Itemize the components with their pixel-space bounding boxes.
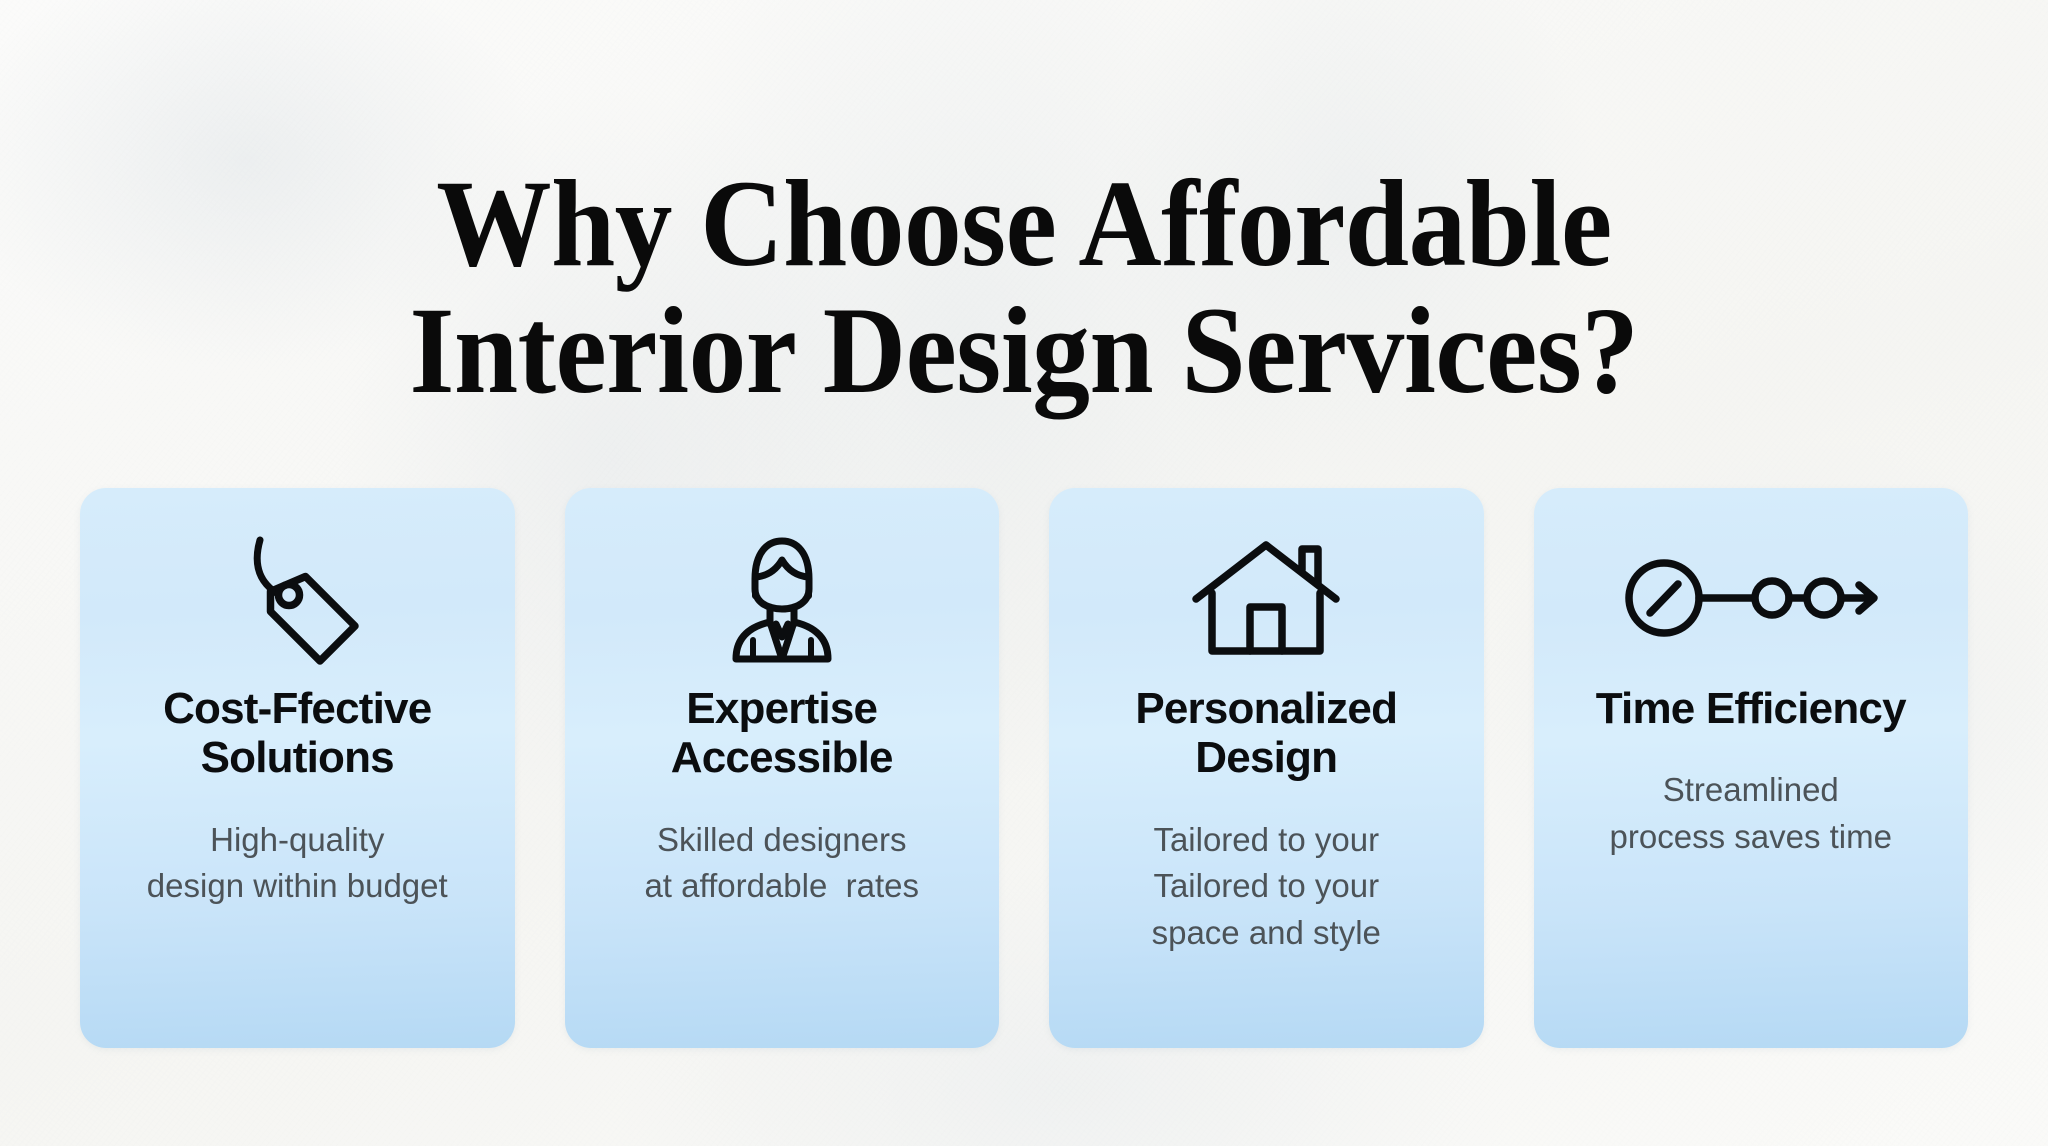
professional-person-icon bbox=[712, 522, 852, 674]
benefit-card-title-line-2: Solutions bbox=[163, 733, 431, 782]
benefit-card-title-line-1: Time Efficiency bbox=[1596, 684, 1906, 733]
benefit-card-desc-line-1: High-quality bbox=[147, 817, 448, 864]
benefit-card-row: Cost-Ffective Solutions High-quality des… bbox=[80, 488, 1968, 1048]
benefit-card-desc-line-2: process saves time bbox=[1610, 814, 1892, 861]
page-title-line-1: Why Choose Affordable bbox=[72, 161, 1977, 287]
benefit-card-desc-line-1: Tailored to your bbox=[1152, 817, 1381, 864]
benefit-card-title-line-1: Expertise bbox=[671, 684, 893, 733]
benefit-card-title-line-2: Design bbox=[1135, 733, 1397, 782]
slide-root: Why Choose Affordable Interior Design Se… bbox=[0, 0, 2048, 1146]
price-tag-icon bbox=[222, 522, 372, 674]
benefit-card-expertise[interactable]: Expertise Accessible Skilled designers a… bbox=[565, 488, 1000, 1048]
benefit-card-title-line-1: Personalized bbox=[1135, 684, 1397, 733]
benefit-card-description: Skilled designers at affordable rates bbox=[644, 817, 919, 911]
benefit-card-personalized[interactable]: Personalized Design Tailored to your Tai… bbox=[1049, 488, 1484, 1048]
benefit-card-description: Tailored to your Tailored to your space … bbox=[1152, 817, 1381, 958]
page-title-line-2: Interior Design Services? bbox=[72, 288, 1977, 414]
benefit-card-time-efficiency[interactable]: Time Efficiency Streamlined process save… bbox=[1534, 488, 1969, 1048]
benefit-card-description: High-quality design within budget bbox=[147, 817, 448, 911]
benefit-card-title: Cost-Ffective Solutions bbox=[163, 684, 431, 783]
benefit-card-desc-line-1: Skilled designers bbox=[644, 817, 919, 864]
benefit-card-title: Expertise Accessible bbox=[671, 684, 893, 783]
benefit-card-title: Personalized Design bbox=[1135, 684, 1397, 783]
benefit-card-desc-line-3: space and style bbox=[1152, 910, 1381, 957]
page-title: Why Choose Affordable Interior Design Se… bbox=[72, 161, 1977, 414]
benefit-card-description: Streamlined process saves time bbox=[1610, 767, 1892, 861]
benefit-card-desc-line-2: Tailored to your bbox=[1152, 863, 1381, 910]
benefit-card-desc-line-2: at affordable rates bbox=[644, 863, 919, 910]
benefit-card-desc-line-1: Streamlined bbox=[1610, 767, 1892, 814]
benefit-card-desc-line-2: design within budget bbox=[147, 863, 448, 910]
house-icon bbox=[1186, 522, 1346, 674]
benefit-card-title-line-2: Accessible bbox=[671, 733, 893, 782]
benefit-card-title-line-1: Cost-Ffective bbox=[163, 684, 431, 733]
benefit-card-cost-effective[interactable]: Cost-Ffective Solutions High-quality des… bbox=[80, 488, 515, 1048]
benefit-card-title: Time Efficiency bbox=[1596, 684, 1906, 733]
timeline-arrow-icon bbox=[1621, 522, 1881, 674]
